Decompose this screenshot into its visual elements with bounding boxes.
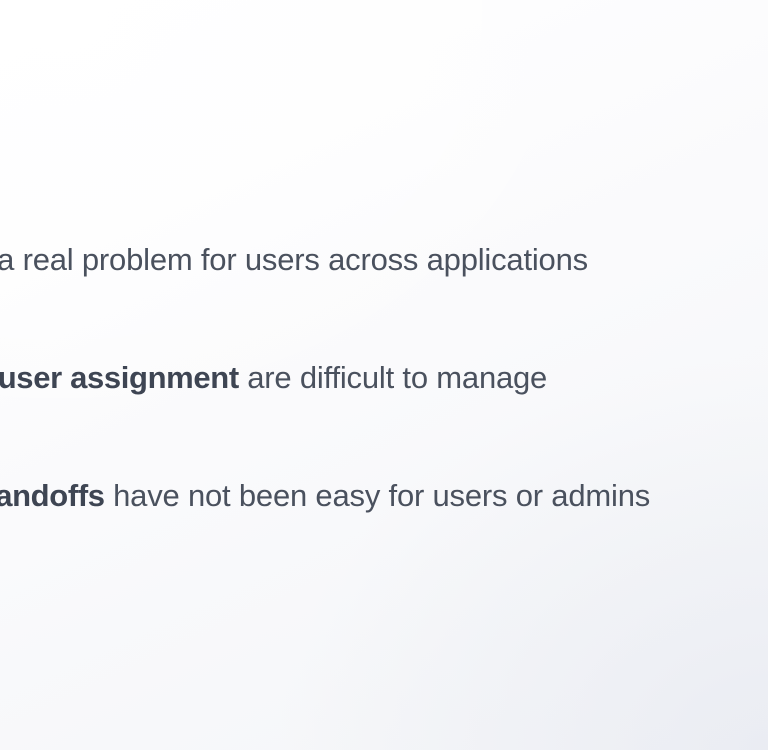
bullet-item-device-handoffs: shift device handoffs have not been easy… (0, 477, 768, 516)
bullet-3-body: have not been easy for users or admins (105, 478, 650, 513)
problem-bullet-list: ord fatigue is a real problem for users … (0, 0, 768, 750)
bullet-2-emphasis-secondary: user assignment (0, 360, 239, 395)
bullet-2-body: are difficult to manage (239, 360, 547, 395)
bullet-item-access-control: s control and user assignment are diffic… (0, 359, 768, 398)
bullet-3-emphasis-lead: shift device handoffs (0, 478, 105, 513)
bullet-item-password-fatigue: ord fatigue is a real problem for users … (0, 241, 768, 280)
slide-canvas: ord fatigue is a real problem for users … (0, 0, 768, 750)
bullet-1-body: is a real problem for users across appli… (0, 242, 588, 277)
